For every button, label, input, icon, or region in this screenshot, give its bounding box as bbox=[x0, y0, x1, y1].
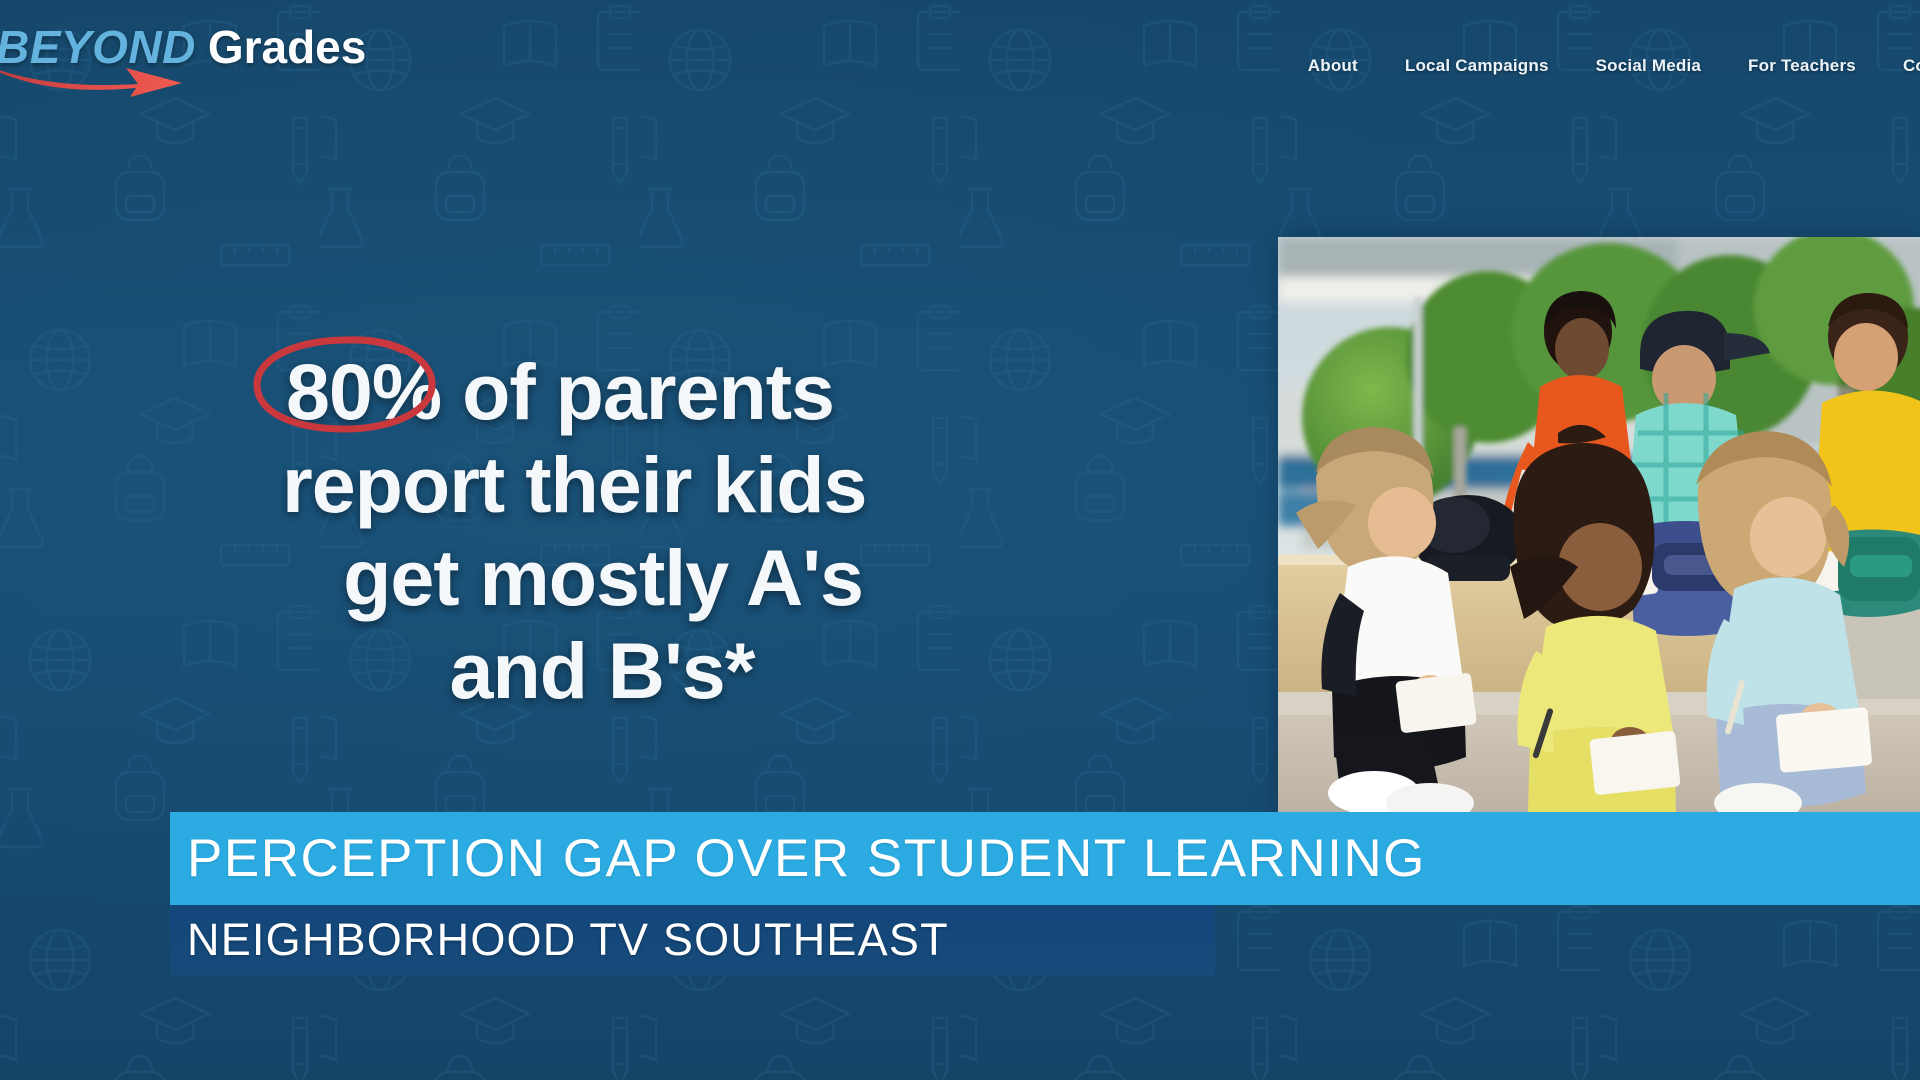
logo-word-beyond: BEYOND bbox=[0, 20, 196, 74]
lower-third-source-banner: NEIGHBORHOOD TV SOUTHEAST bbox=[170, 905, 1215, 975]
site-header: BEYOND Grades About Local Campaigns Soci… bbox=[0, 0, 1920, 145]
lower-third-headline-banner: PERCEPTION GAP OVER STUDENT LEARNING bbox=[170, 812, 1920, 905]
stat-line-3: get mostly A's bbox=[270, 538, 936, 617]
lower-third-source: NEIGHBORHOOD TV SOUTHEAST bbox=[187, 914, 949, 966]
main-navigation: About Local Campaigns Social Media For T… bbox=[1308, 56, 1920, 76]
logo-word-grades: Grades bbox=[208, 20, 367, 74]
nav-contact-truncated[interactable]: Co bbox=[1903, 56, 1920, 76]
nav-local-campaigns[interactable]: Local Campaigns bbox=[1405, 56, 1549, 76]
stat-line-1-rest: of parents bbox=[441, 347, 834, 436]
students-studying-outdoors-photo bbox=[1278, 237, 1920, 812]
stat-percent-value: 80% bbox=[286, 347, 441, 436]
nav-about[interactable]: About bbox=[1308, 56, 1358, 76]
stat-line-2: report their kids bbox=[282, 445, 936, 524]
stat-line-4: and B's* bbox=[268, 631, 936, 710]
hero-statistic-block: 80% of parents report their kids get mos… bbox=[276, 352, 936, 710]
lower-third-headline: PERCEPTION GAP OVER STUDENT LEARNING bbox=[187, 828, 1426, 889]
site-logo[interactable]: BEYOND Grades bbox=[0, 20, 372, 100]
stat-percent-wrapper: 80% bbox=[286, 352, 441, 431]
stat-line-1: 80% of parents bbox=[286, 352, 936, 431]
nav-for-teachers[interactable]: For Teachers bbox=[1748, 56, 1856, 76]
nav-social-media[interactable]: Social Media bbox=[1596, 56, 1701, 76]
